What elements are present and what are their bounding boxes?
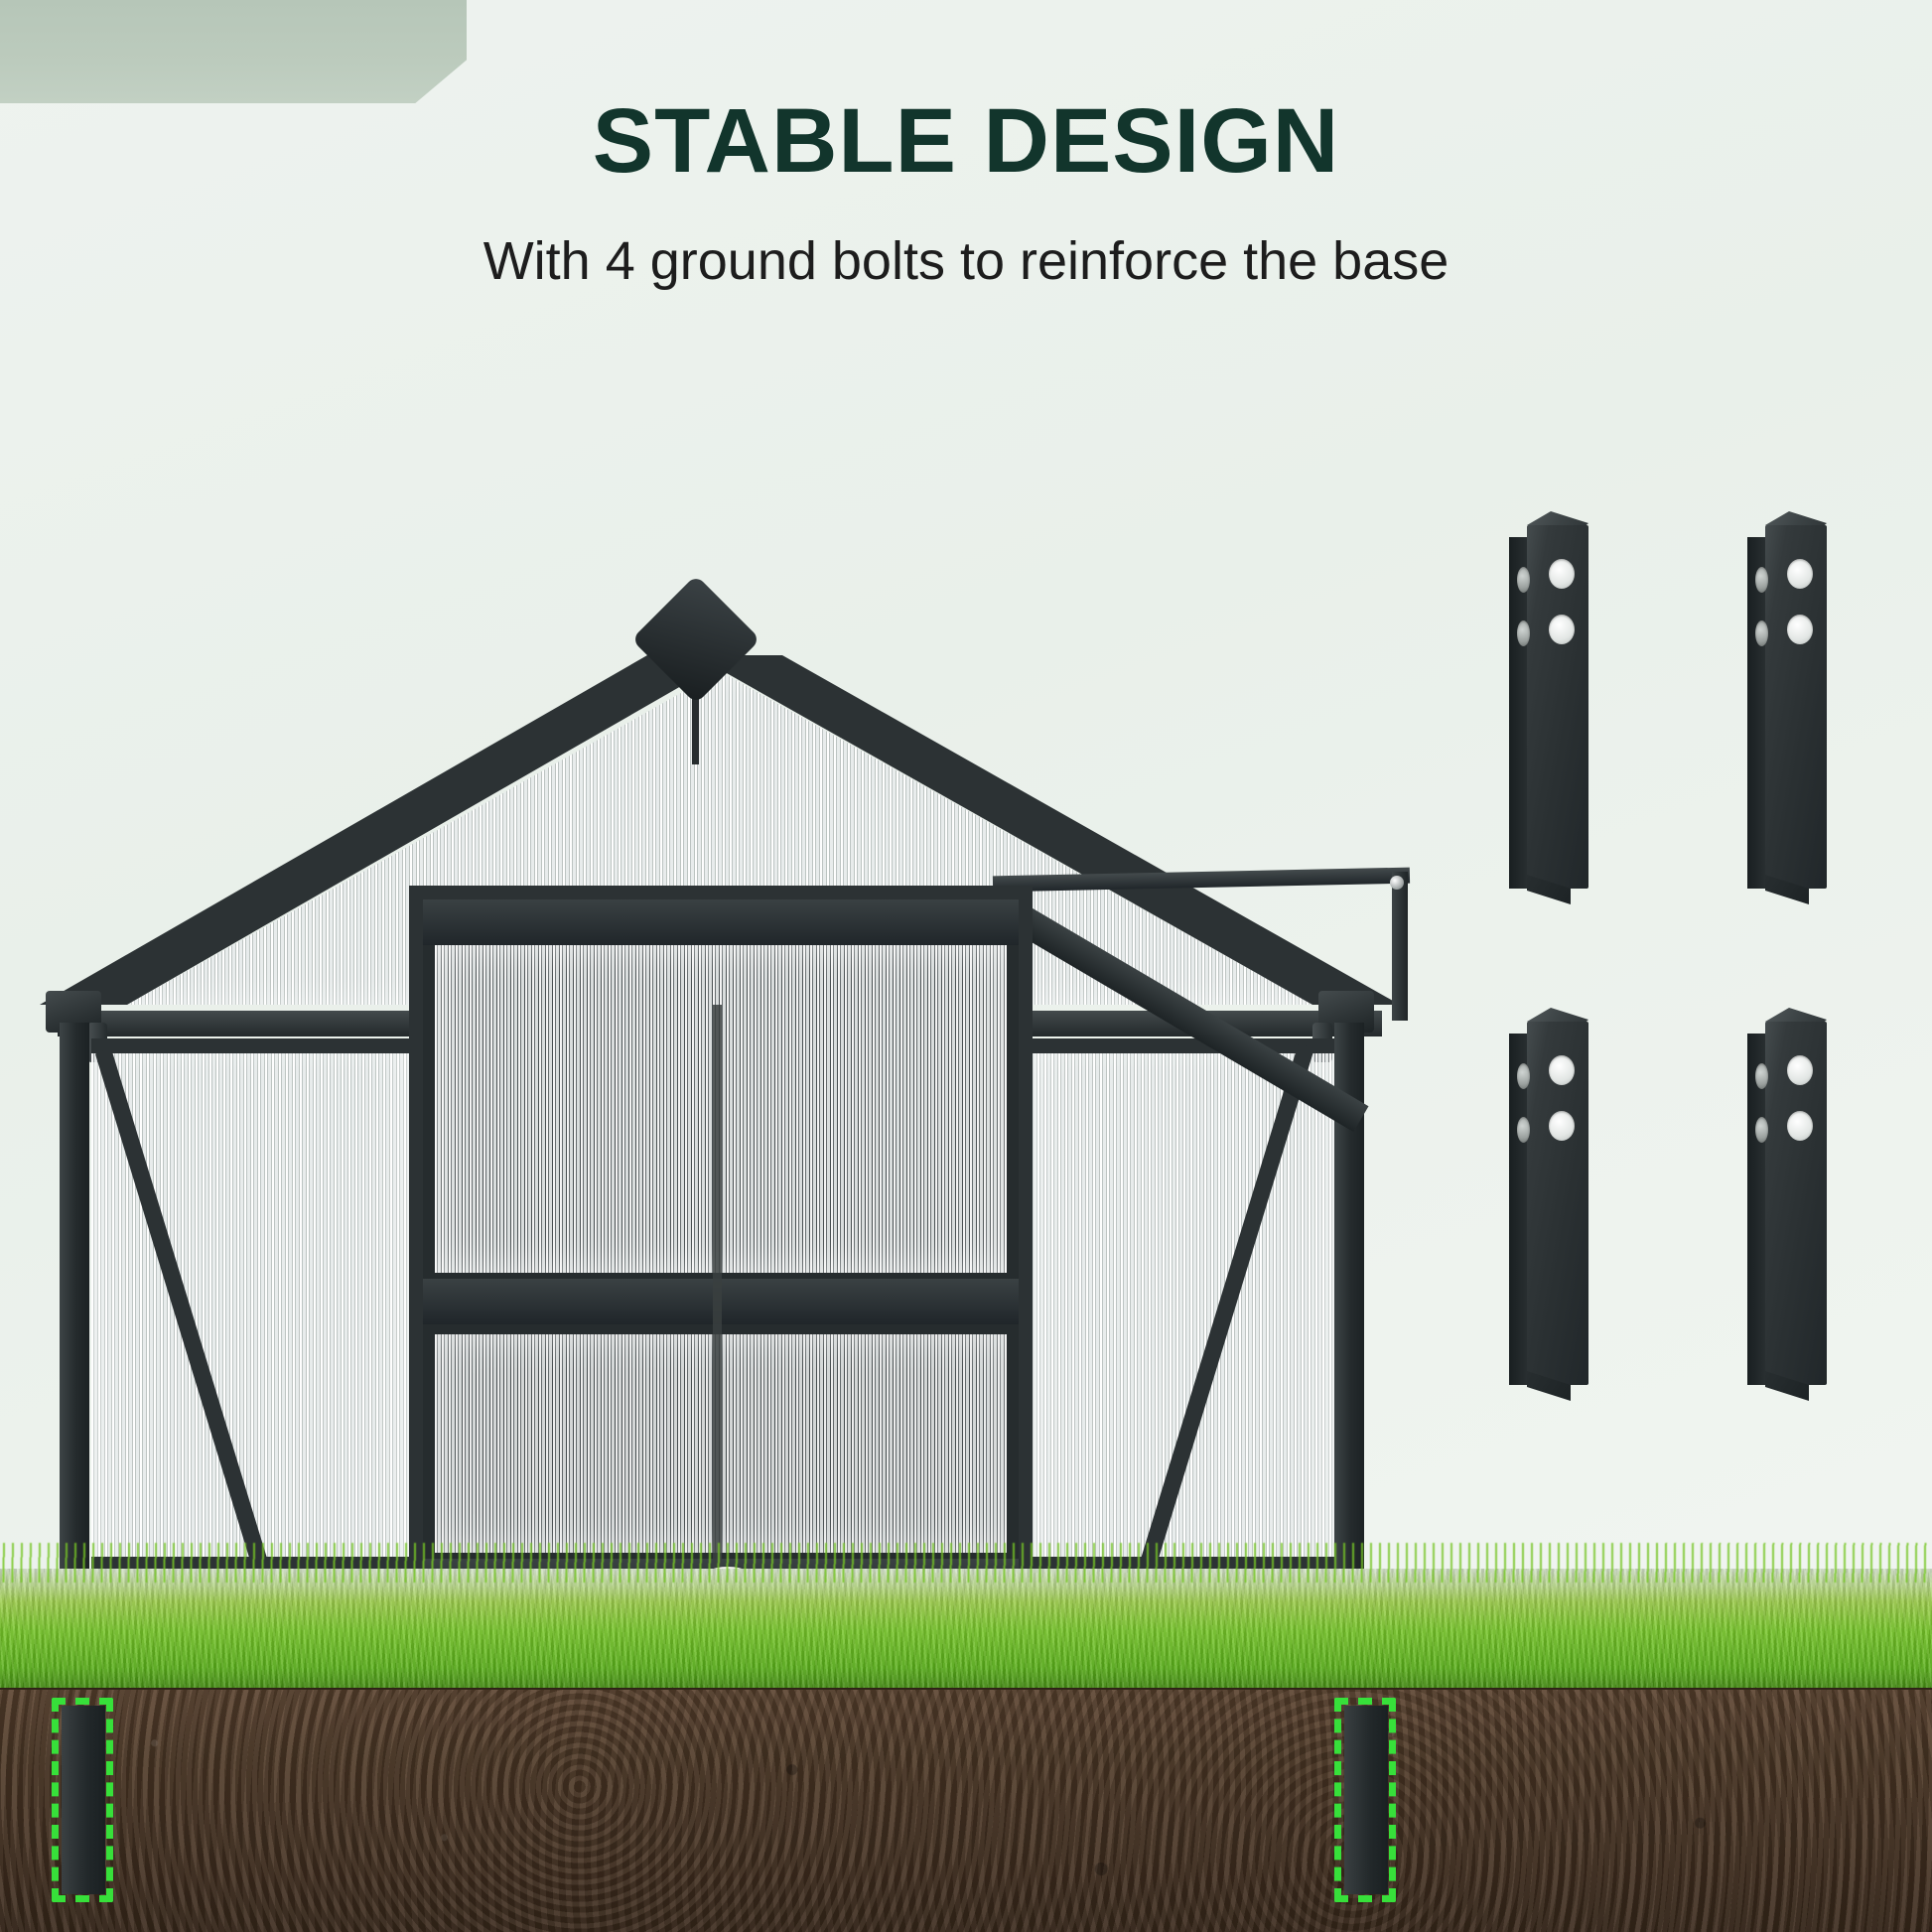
anchor-hole-side <box>1517 1063 1530 1089</box>
anchor-hole-side <box>1755 567 1768 593</box>
buried-anchor-highlight-right <box>1334 1698 1396 1902</box>
anchor-post-4 <box>1747 1008 1807 1385</box>
anchor-hole-front <box>1549 1055 1575 1085</box>
roof-vent-pin <box>1390 876 1404 890</box>
anchor-hole-front <box>1549 615 1575 644</box>
wall-rail-left-top <box>91 1038 409 1053</box>
anchor-hole-front <box>1787 1055 1813 1085</box>
greenhouse-illustration <box>40 328 1400 1718</box>
anchor-bolt-group <box>1509 511 1926 1405</box>
page-subtitle: With 4 ground bolts to reinforce the bas… <box>0 234 1932 288</box>
anchor-hole-side <box>1755 1063 1768 1089</box>
anchor-hole-front <box>1787 1111 1813 1141</box>
wall-rail-right-top <box>1031 1038 1334 1053</box>
buried-anchor-highlight-left <box>52 1698 113 1902</box>
anchor-hole-front <box>1549 1111 1575 1141</box>
anchor-hole-side <box>1755 1117 1768 1143</box>
anchor-post-2 <box>1747 511 1807 889</box>
anchor-hole-side <box>1517 621 1530 646</box>
page-title: STABLE DESIGN <box>0 95 1932 187</box>
anchor-hole-front <box>1549 559 1575 589</box>
anchor-post-3 <box>1509 1008 1569 1385</box>
anchor-hole-front <box>1787 615 1813 644</box>
anchor-hole-side <box>1755 621 1768 646</box>
door-rail-top <box>423 899 1019 945</box>
grass-layer <box>0 1569 1932 1696</box>
anchor-hole-side <box>1517 567 1530 593</box>
product-feature-image: STABLE DESIGN With 4 ground bolts to rei… <box>0 0 1932 1932</box>
decorative-corner-band <box>0 0 467 103</box>
anchor-post-1 <box>1509 511 1569 889</box>
roof-vent-stay <box>1392 872 1408 1021</box>
soil-cross-section <box>0 1690 1932 1932</box>
anchor-hole-side <box>1517 1117 1530 1143</box>
anchor-hole-front <box>1787 559 1813 589</box>
